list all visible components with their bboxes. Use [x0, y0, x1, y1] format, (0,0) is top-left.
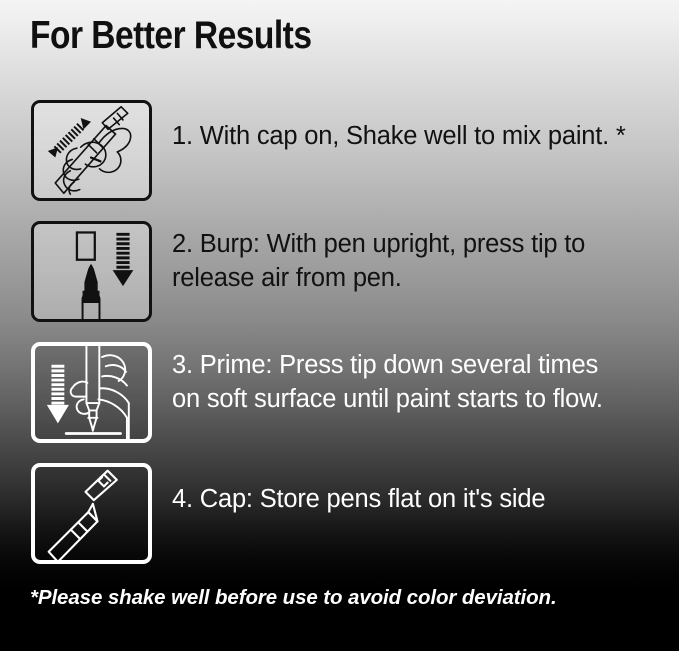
footnote-text: *Please shake well before use to avoid c… — [30, 586, 557, 610]
step-2-text: 2. Burp: With pen upright, press tip to … — [172, 228, 672, 296]
pen-upright-cap-off-icon — [31, 221, 152, 322]
step-1-text: 1. With cap on, Shake well to mix paint.… — [172, 120, 672, 154]
instruction-panel: For Better Results — [0, 0, 679, 651]
step-4-text: 4. Cap: Store pens flat on it's side — [172, 483, 672, 517]
hand-pressing-pen-down-icon — [31, 342, 152, 443]
step-3-text: 3. Prime: Press tip down several times o… — [172, 349, 672, 417]
hand-shaking-pen-icon — [31, 100, 152, 201]
page-title: For Better Results — [30, 16, 311, 57]
pen-lying-flat-icon — [31, 463, 152, 564]
